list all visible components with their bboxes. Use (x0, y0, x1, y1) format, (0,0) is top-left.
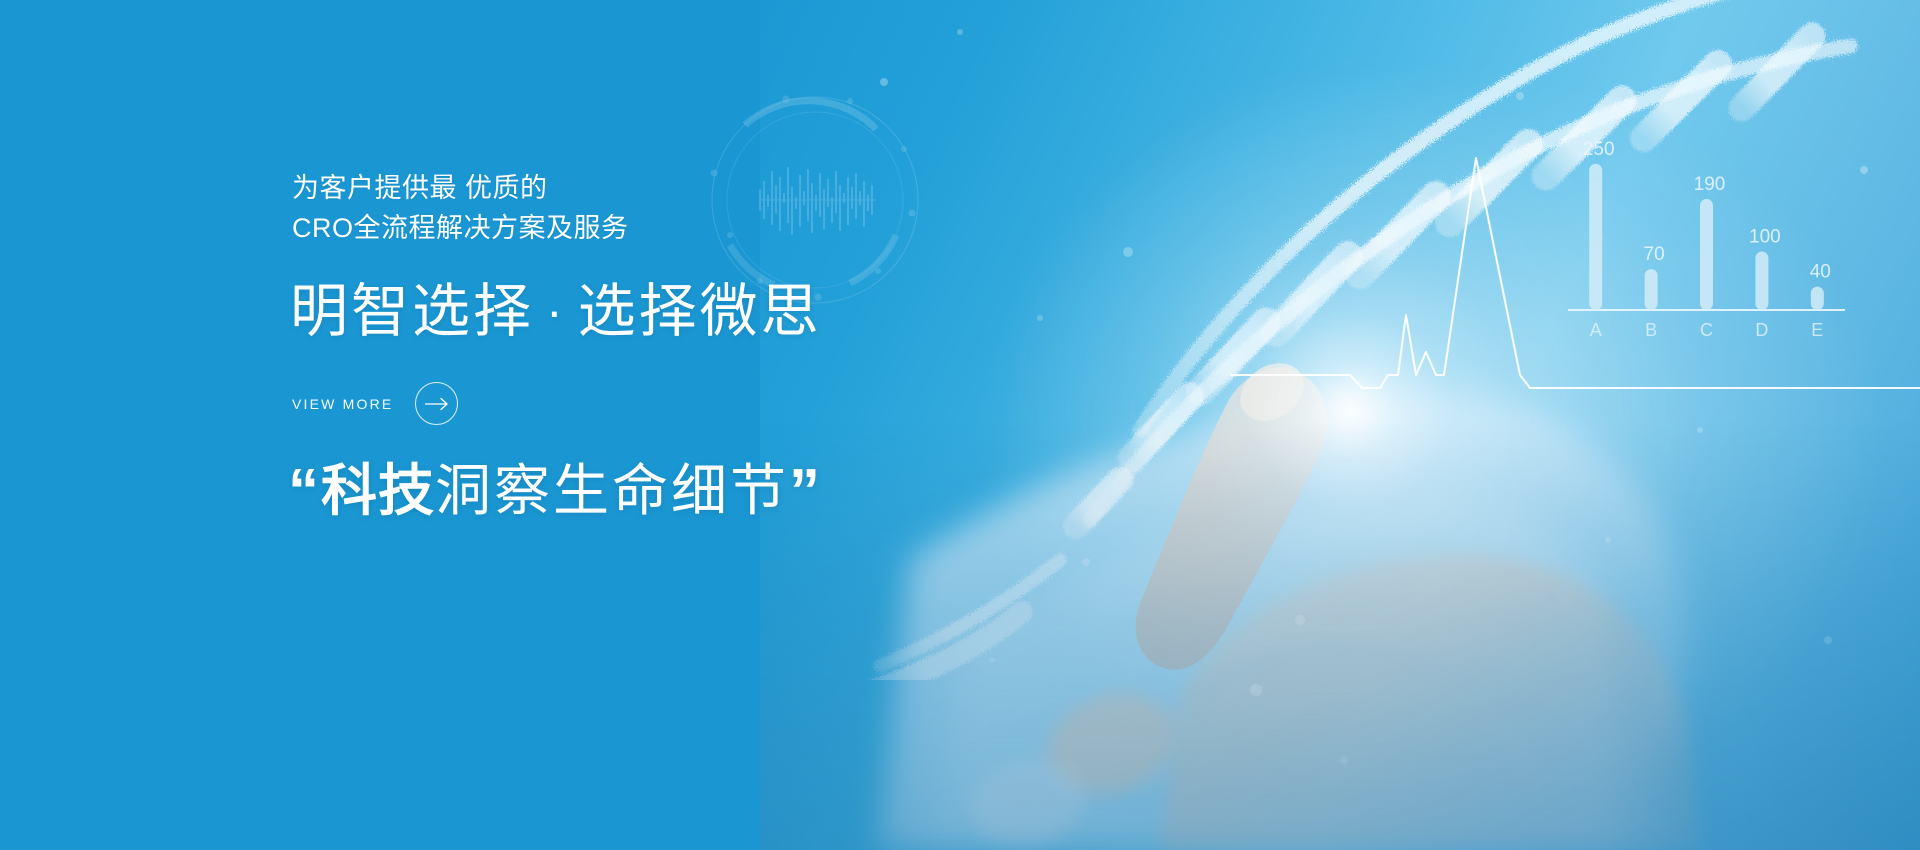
headline-left: 明智选择 (290, 279, 534, 344)
hero-content: 为客户提供最 优质的 CRO全流程解决方案及服务 明智选择·选择微思 VIEW … (0, 0, 900, 850)
subtitle-line-1: 为客户提供最 优质的 (292, 168, 852, 208)
view-more-button[interactable]: VIEW MORE (292, 382, 458, 425)
bar-B (1645, 269, 1658, 310)
hero-subtitle: 为客户提供最 优质的 CRO全流程解决方案及服务 (292, 168, 852, 248)
bar-C (1700, 199, 1713, 310)
bar-A (1589, 164, 1602, 310)
hero-quote: “科技洞察生命细节” (288, 452, 822, 531)
bar-value-C: 190 (1694, 174, 1726, 195)
bar-value-E: 40 (1810, 262, 1831, 283)
bar-category-E: E (1811, 320, 1823, 340)
view-more-label: VIEW MORE (292, 396, 393, 412)
quote-open-mark: “ (288, 457, 321, 526)
quote-strong: 科技 (321, 459, 435, 522)
bar-category-C: C (1700, 320, 1713, 340)
bar-value-D: 100 (1749, 227, 1781, 248)
quote-close-mark: ” (789, 457, 822, 526)
arrow-right-icon[interactable] (415, 382, 458, 425)
hero-banner: 为客户提供最 优质的 CRO全流程解决方案及服务 明智选择·选择微思 VIEW … (0, 0, 1920, 850)
headline-separator: · (534, 283, 578, 339)
bar-category-D: D (1755, 320, 1768, 340)
bar-value-A: 250 (1583, 139, 1615, 160)
bar-E (1811, 287, 1824, 310)
right-visualization: 250A70B190C100D40E (1230, 120, 1920, 450)
bar-category-A: A (1590, 320, 1602, 340)
quote-light: 洞察生命细节 (435, 459, 789, 522)
bar-chart: 250A70B190C100D40E (1560, 138, 1860, 368)
subtitle-line-2: CRO全流程解决方案及服务 (292, 208, 852, 248)
hero-headline: 明智选择·选择微思 (290, 275, 822, 348)
bar-value-B: 70 (1644, 244, 1665, 265)
headline-right: 选择微思 (578, 279, 822, 344)
bar-D (1755, 252, 1768, 310)
bar-category-B: B (1645, 320, 1657, 340)
